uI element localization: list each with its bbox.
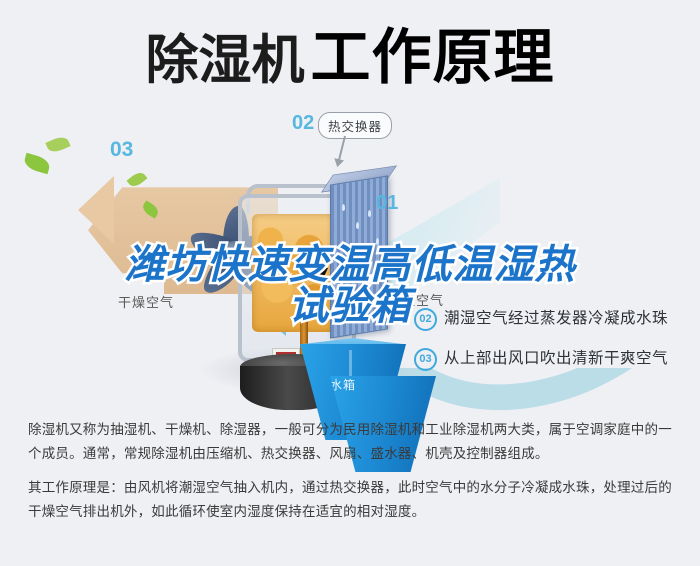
leaf-icon — [45, 134, 70, 155]
callout-pointer-icon — [338, 136, 346, 162]
water-drop-icon — [376, 238, 379, 245]
description-paragraph-2: 其工作原理是：由风机将潮湿空气抽入机内，通过热交换器，此时空气中的水分子冷凝成水… — [28, 476, 676, 524]
title-part-2: 工作原理 — [311, 24, 555, 91]
water-drop-icon — [362, 260, 365, 267]
dry-air-arrow-tip-icon — [78, 176, 114, 244]
leaf-icon — [127, 170, 148, 190]
caption-badge-02: 02 — [414, 308, 437, 331]
caption-badge-03: 03 — [414, 348, 437, 371]
water-drop-icon — [368, 210, 371, 217]
dehumidifier-diagram: 水箱 03 02 01 干燥空气 潮湿空气 热交换器 02 潮湿空气经过蒸发器冷… — [0, 118, 700, 410]
description-block: 除湿机又称为抽湿机、干燥机、除湿器，一般可分为民用除湿机和工业除湿机两大类，属于… — [28, 418, 676, 524]
flow-arrow-icon — [316, 268, 328, 281]
water-drop-icon — [356, 222, 359, 229]
water-drop-icon — [346, 244, 349, 251]
caption-text-02: 潮湿空气经过蒸发器冷凝成水珠 — [444, 306, 668, 328]
page-title: 除湿机工作原理 — [0, 28, 700, 88]
leaf-icon — [22, 153, 51, 175]
page-root: 除湿机工作原理 — [0, 0, 700, 566]
marker-02-heat-exchanger: 02 — [292, 112, 314, 135]
water-drop-icon — [342, 204, 345, 211]
description-paragraph-1: 除湿机又称为抽湿机、干燥机、除湿器，一般可分为民用除湿机和工业除湿机两大类，属于… — [28, 418, 676, 466]
flow-arrow-icon — [298, 252, 310, 264]
humid-air-label: 潮湿空气 — [388, 290, 444, 309]
title-part-1: 除湿机 — [146, 31, 305, 90]
heat-exchanger-callout: 热交换器 — [318, 112, 392, 139]
caption-text-03: 从上部出风口吹出清新干爽空气 — [444, 346, 668, 368]
dry-air-label: 干燥空气 — [118, 292, 174, 311]
marker-03-dry-air: 03 — [110, 138, 133, 162]
flow-arrow-icon — [268, 268, 280, 281]
water-drop-icon — [358, 298, 361, 305]
marker-01-humid-air: 01 — [376, 192, 398, 215]
water-drop-icon — [340, 280, 343, 287]
